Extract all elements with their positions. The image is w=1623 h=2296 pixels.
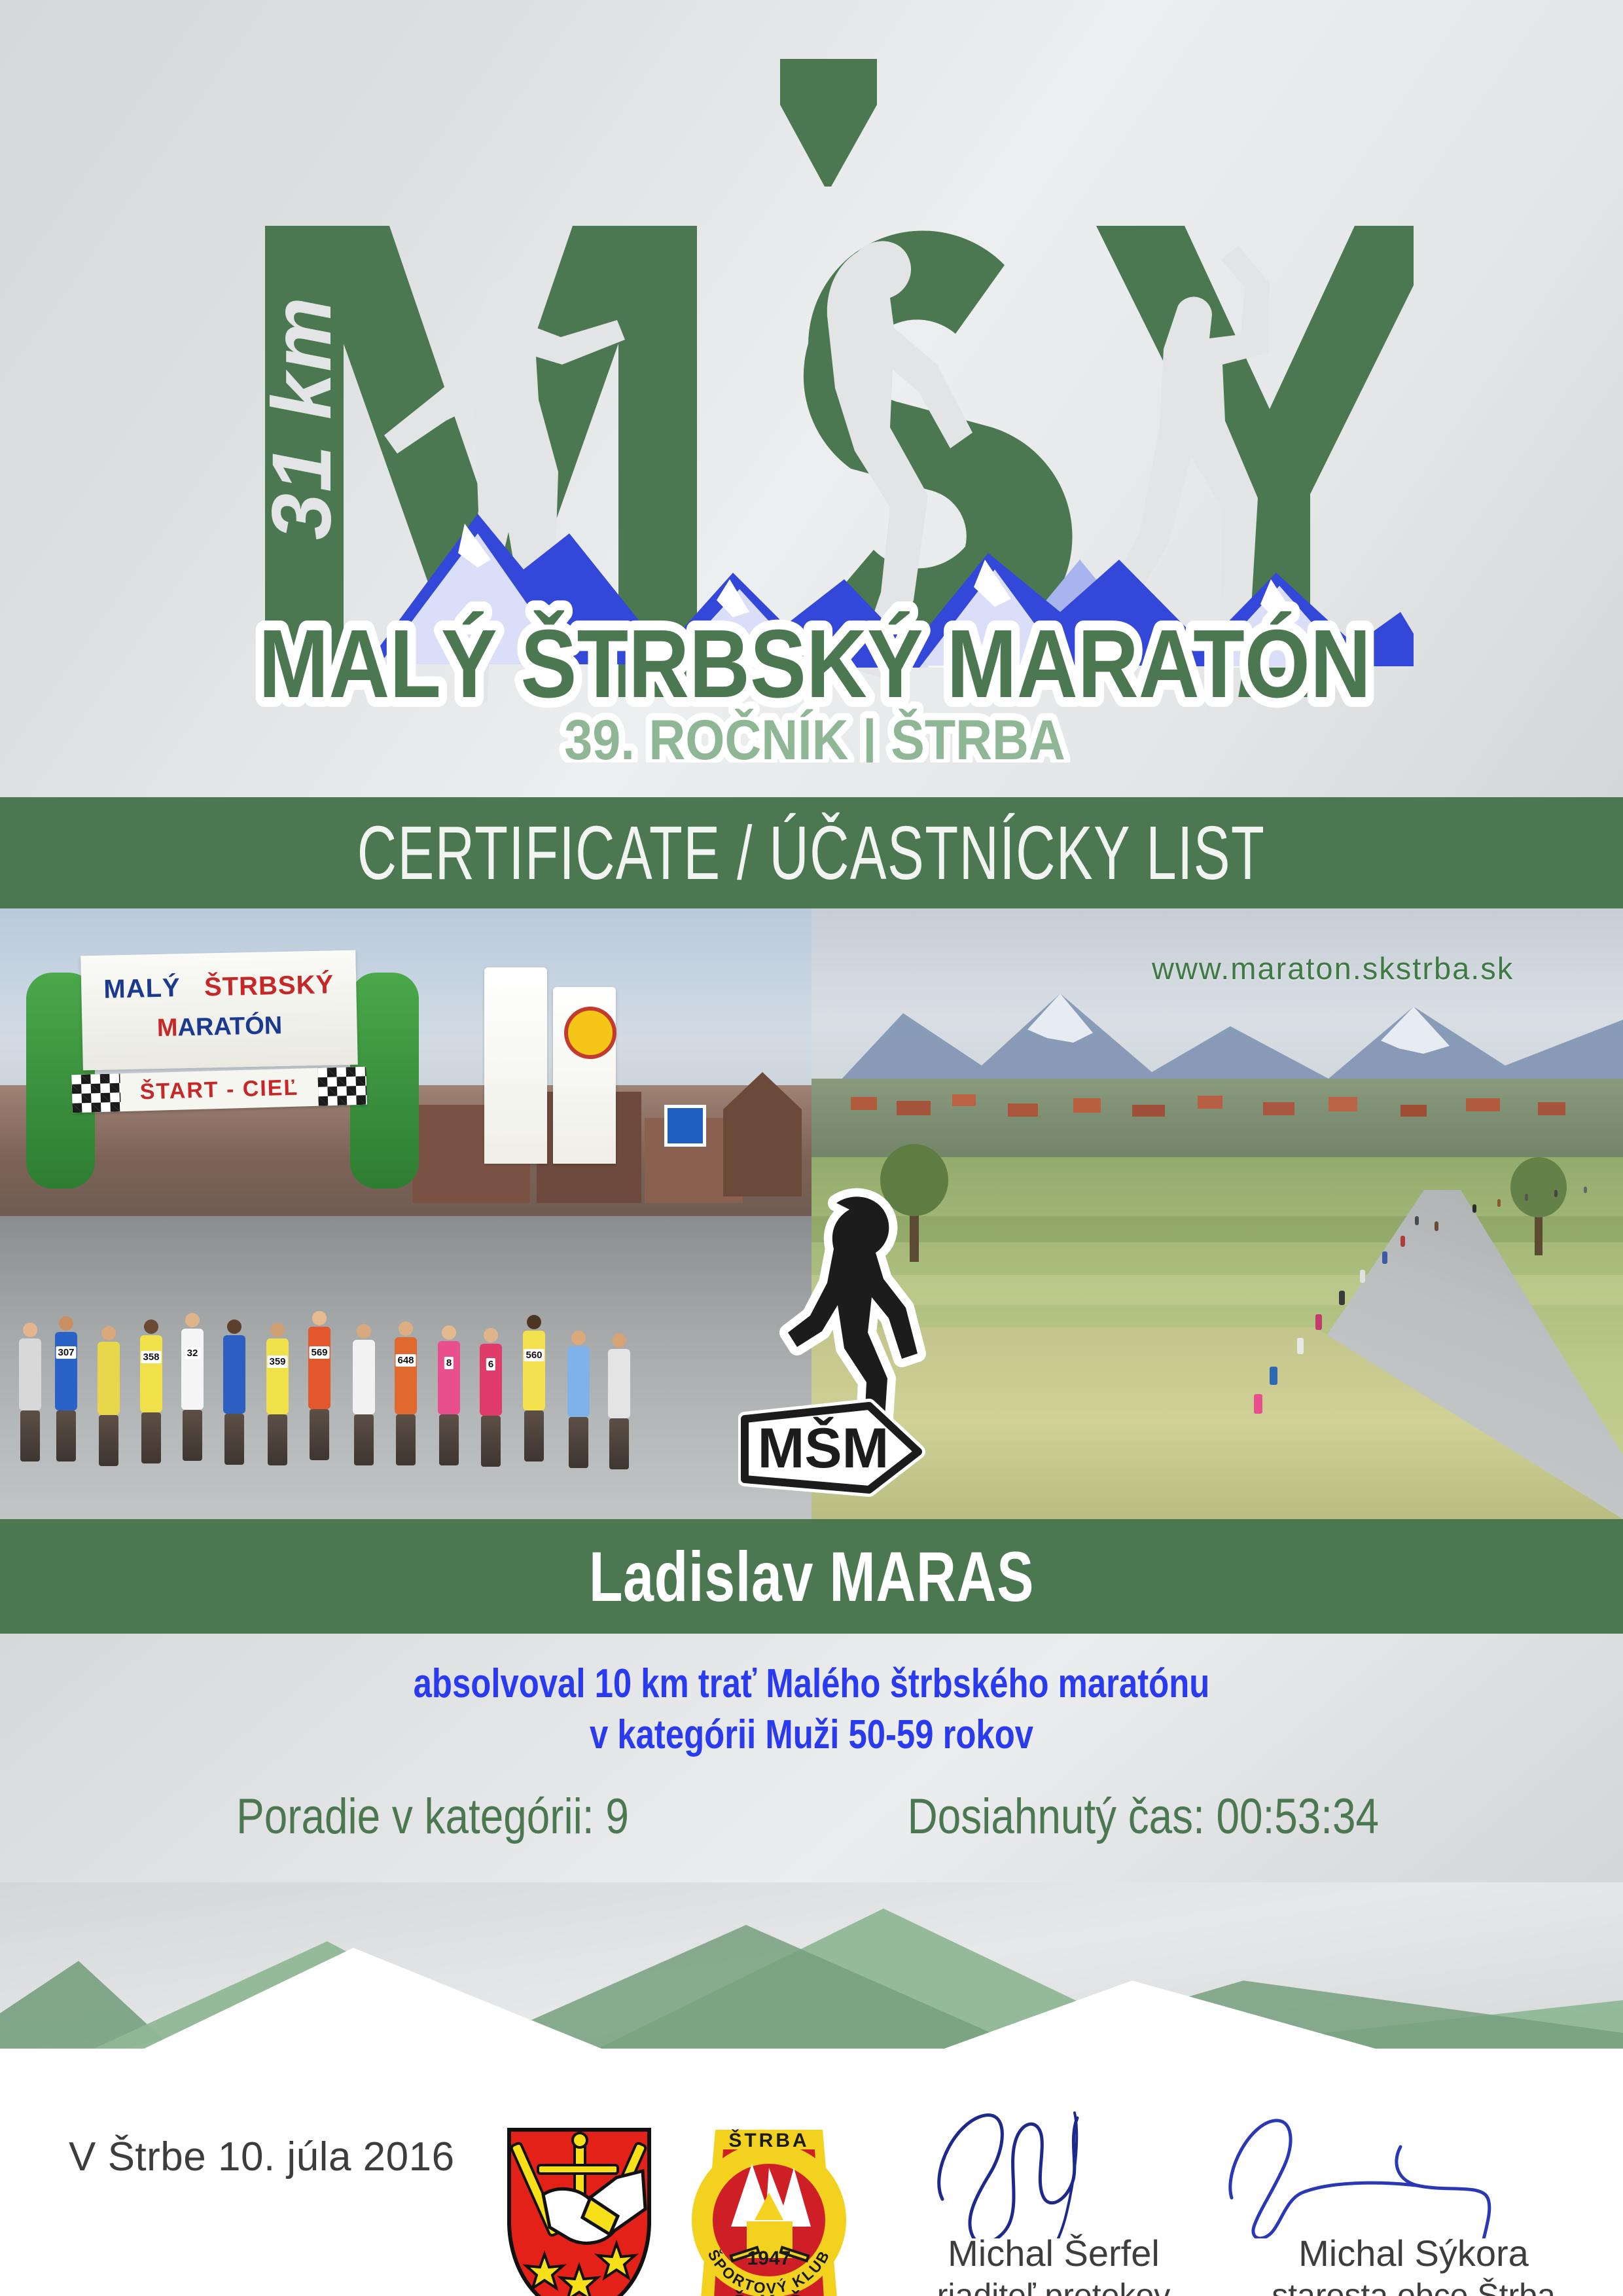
runner: 569 — [302, 1311, 336, 1519]
category-rank: Poradie v kategórii: 9 — [236, 1788, 629, 1845]
bib-number: 307 — [56, 1346, 76, 1359]
runner: 358 — [134, 1319, 168, 1519]
caron-accent — [780, 59, 877, 187]
achievement-text: absolvoval 10 km trať Malého štrbského m… — [146, 1659, 1477, 1761]
certificate-heading: CERTIFICATE / ÚČASTNÍCKY LIST — [357, 809, 1266, 897]
results-row: Poradie v kategórii: 9 Dosiahnutý čas: 0… — [0, 1788, 1623, 1845]
distant-runner — [1254, 1394, 1262, 1414]
signatory-role: starosta obce Štrba — [1204, 2276, 1623, 2296]
certificate-page: 31 km 10 km — [0, 0, 1623, 2296]
distant-runner — [1554, 1190, 1558, 1197]
checker-left — [71, 1073, 121, 1113]
msm-runner-sticker: MŠM — [738, 1177, 954, 1504]
footer: V Štrbe 10. júla 2016 Obec Štrba — [0, 2049, 1623, 2296]
arch-word-araton: ARATÓN — [177, 1012, 283, 1041]
runner — [92, 1326, 126, 1519]
runner — [602, 1333, 636, 1519]
sponsor-badge — [564, 1007, 616, 1059]
msm-logo-svg: 31 km 10 km — [216, 36, 1414, 762]
bib-number: 8 — [444, 1357, 454, 1369]
bib-number: 648 — [395, 1354, 416, 1367]
handwritten-signature-icon — [844, 2101, 1263, 2238]
arch-line-2: MARATÓN — [82, 1011, 357, 1045]
runner: 560 — [517, 1315, 551, 1519]
runner: 32 — [175, 1313, 209, 1519]
distant-runner — [1297, 1338, 1304, 1354]
achievement-line-1: absolvoval 10 km trať Malého štrbského m… — [146, 1659, 1477, 1710]
arch-word-maly: MALÝ — [103, 973, 181, 1003]
sks-year: 1947 — [747, 2248, 791, 2269]
distant-runner — [1525, 1194, 1528, 1201]
runner — [217, 1319, 251, 1519]
bib-number: 6 — [486, 1358, 495, 1371]
photo-start-line: MALÝ ŠTRBSKÝ MARATÓN ŠTART - CIEĽ — [0, 908, 811, 1519]
issue-date: V Štrbe 10. júla 2016 — [69, 2134, 455, 2180]
logo-subtitle: 39. ROČNÍK | ŠTRBA — [564, 709, 1065, 762]
bib-number: 358 — [141, 1351, 161, 1363]
distant-runner — [1360, 1270, 1365, 1283]
feather-flag-1 — [484, 967, 547, 1164]
start-finish-banner: ŠTART - CIEĽ — [71, 1067, 366, 1113]
distant-runner — [1315, 1314, 1322, 1330]
logo-title: MALÝ ŠTRBSKÝ MARATÓN — [259, 610, 1371, 718]
certificate-title-band: CERTIFICATE / ÚČASTNÍCKY LIST — [0, 797, 1623, 908]
bib-number: 32 — [185, 1347, 200, 1359]
start-finish-text: ŠTART - CIEĽ — [139, 1075, 298, 1105]
finish-time: Dosiahnutý čas: 00:53:34 — [908, 1788, 1379, 1845]
msm-badge-label: MŠM — [758, 1417, 889, 1480]
signatory-name: Michal Šerfel — [844, 2232, 1263, 2274]
runner: 648 — [389, 1321, 423, 1519]
bib-number: 560 — [524, 1349, 544, 1361]
arch-line-1: MALÝ ŠTRBSKÝ — [81, 970, 357, 1005]
bib-number: 359 — [267, 1355, 287, 1368]
distant-runner — [1270, 1367, 1277, 1385]
sks-top-text: ŠTRBA — [728, 2129, 809, 2151]
crosswalk-sign — [664, 1105, 706, 1147]
runner: 307 — [49, 1316, 83, 1519]
runner: 6 — [474, 1328, 508, 1519]
distant-runner — [1584, 1187, 1587, 1193]
website-url[interactable]: www.maraton.skstrba.sk — [1152, 950, 1514, 986]
participant-name: Ladislav MARAS — [589, 1535, 1034, 1617]
tree-crown — [1510, 1157, 1567, 1217]
sks-club-logo-icon: ŠTRBA 1947 Š K Š ŠPORTOVÝ KLUB — [684, 2122, 854, 2296]
msm-badge: MŠM — [745, 1406, 918, 1490]
distant-runner — [1435, 1221, 1438, 1231]
distant-runner — [1415, 1216, 1419, 1225]
arch-banner: MALÝ ŠTRBSKÝ MARATÓN — [80, 950, 358, 1071]
inflatable-start-arch: MALÝ ŠTRBSKÝ MARATÓN ŠTART - CIEĽ — [26, 948, 419, 1144]
runner — [562, 1331, 596, 1519]
svg-text:31 km: 31 km — [255, 296, 349, 540]
distant-runner — [1339, 1291, 1345, 1305]
runner — [13, 1323, 47, 1519]
runner: 359 — [260, 1323, 294, 1519]
hero-logo-section: 31 km 10 km — [0, 0, 1623, 797]
runner — [347, 1324, 381, 1519]
signatory-name: Michal Sýkora — [1204, 2232, 1623, 2274]
bib-number: 569 — [309, 1346, 329, 1359]
handwritten-signature-icon — [1204, 2101, 1623, 2238]
distant-runner — [1382, 1251, 1387, 1264]
distant-runner — [1400, 1236, 1405, 1247]
runner-crowd: 307 358 32 — [0, 1275, 811, 1519]
obec-strba-coat-of-arms-icon — [504, 2126, 654, 2296]
distant-runner — [1497, 1199, 1501, 1207]
runner: 8 — [432, 1325, 466, 1519]
achievement-line-2: v kategórii Muži 50-59 rokov — [146, 1710, 1477, 1761]
msm-logo: 31 km 10 km — [0, 0, 1623, 797]
distant-runner — [1472, 1204, 1476, 1213]
signatory-role: riaditeľ pretekov — [844, 2276, 1263, 2296]
participant-name-band: Ladislav MARAS — [0, 1519, 1623, 1634]
arch-word-strbsky: ŠTRBSKÝ — [204, 970, 334, 1001]
checker-right — [317, 1067, 367, 1106]
arch-word-m: M — [156, 1014, 178, 1042]
